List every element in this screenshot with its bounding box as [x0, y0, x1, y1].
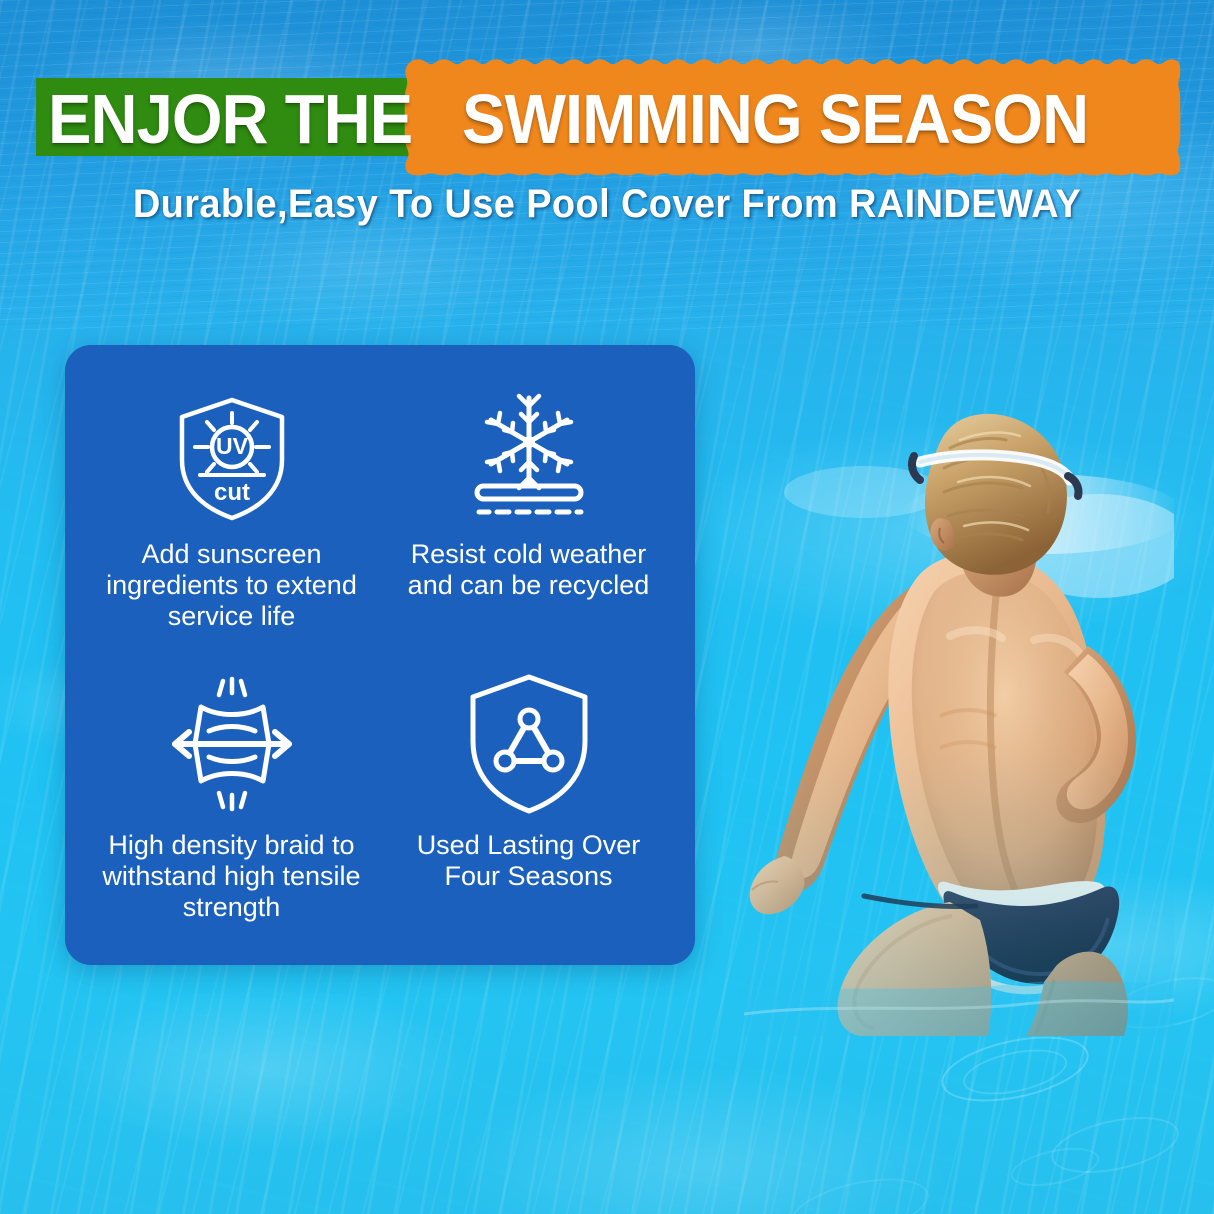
headline-banner: ENJOR THE SWIMMING SEASON — [0, 78, 1214, 160]
snowflake-layers-icon — [459, 383, 599, 533]
headline-part2: SWIMMING SEASON — [462, 81, 1088, 157]
feature-item-four-seasons: Used Lasting Over Four Seasons — [380, 658, 677, 939]
features-panel: UV cut Add sunscreen ingredients to exte… — [65, 345, 695, 965]
feature-caption-cold-resist: Resist cold weather and can be recycled — [390, 539, 667, 601]
headline-part1: ENJOR THE — [48, 81, 412, 157]
feature-caption-four-seasons: Used Lasting Over Four Seasons — [390, 830, 667, 892]
uv-cut-shield-icon: UV cut — [164, 383, 300, 533]
tensile-stretch-icon — [157, 664, 307, 824]
feature-item-uv-cut: UV cut Add sunscreen ingredients to exte… — [83, 377, 380, 658]
boy-swimmer-illustration — [744, 396, 1174, 1036]
feature-caption-tensile: High density braid to withstand high ten… — [93, 830, 370, 923]
shield-triangle-nodes-icon — [459, 664, 599, 824]
uv-icon-label-bottom: cut — [214, 479, 250, 506]
uv-icon-label-top: UV — [216, 433, 249, 459]
banner-stage: ENJOR THE SWIMMING SEASON Durable,Easy T… — [0, 0, 1214, 1214]
feature-caption-uv-cut: Add sunscreen ingredients to extend serv… — [93, 539, 370, 632]
headline-text: ENJOR THE SWIMMING SEASON — [0, 78, 1214, 160]
swimmer-photo — [744, 396, 1174, 1036]
feature-item-cold-resist: Resist cold weather and can be recycled — [380, 377, 677, 658]
subtitle: Durable,Easy To Use Pool Cover From RAIN… — [30, 182, 1183, 227]
feature-item-tensile: High density braid to withstand high ten… — [83, 658, 380, 939]
